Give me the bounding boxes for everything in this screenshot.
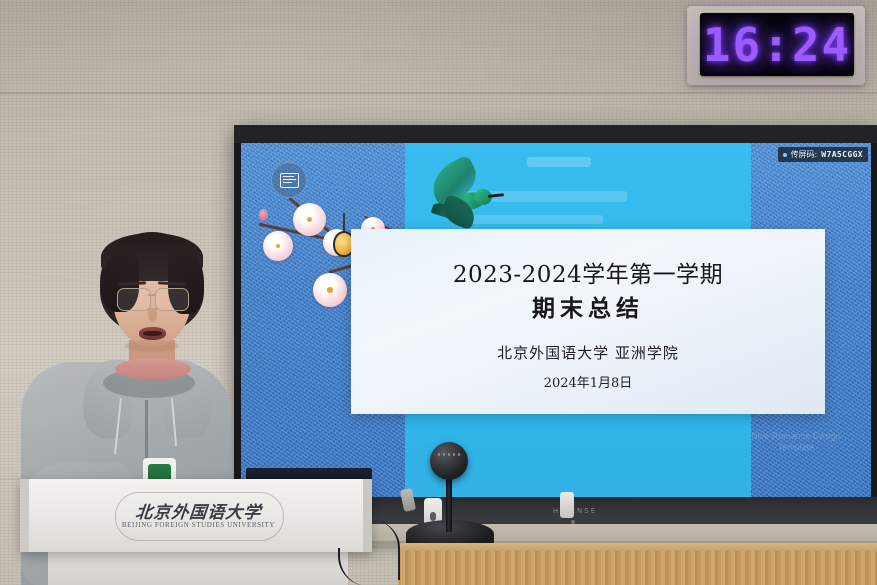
wall-seam — [0, 92, 877, 94]
conference-mic-stem — [446, 476, 452, 532]
nose — [148, 308, 157, 322]
slide-title-line2: 期末总结 — [351, 289, 825, 323]
cast-code-badge: 传屏码: W7A5CGGX — [778, 147, 868, 162]
clock-time: 16:24 — [700, 13, 854, 76]
slide-title-card: 2023-2024学年第一学期 期末总结 北京外国语大学 亚洲学院 2024年1… — [351, 229, 825, 414]
cast-code-value: W7A5CGGX — [821, 150, 863, 159]
chin-shadow — [125, 340, 179, 352]
lecture-hall-photo: 16:24 — [0, 0, 877, 585]
eyeglasses-lens — [117, 288, 151, 311]
conference-mic-head — [430, 442, 468, 480]
lectern-emblem-cn: 北京外国语大学 — [114, 498, 283, 523]
slide-placeholder-bar — [527, 157, 591, 167]
lectern-edge — [363, 479, 372, 552]
display-bezel-top — [234, 125, 877, 143]
mouth-interior — [143, 331, 162, 336]
slide-watermark: Nice Romance Design Template — [741, 431, 851, 453]
lantern-string — [343, 213, 345, 233]
eyeglasses-bridge — [148, 294, 156, 296]
slide-organization: 北京外国语大学 亚洲学院 — [351, 342, 825, 363]
conference-table-front — [398, 551, 877, 585]
desk-device-slot — [430, 512, 436, 521]
conference-mic-grille — [438, 452, 460, 457]
display-screen[interactable]: 传屏码: W7A5CGGX Nice Romance Design Templa… — [241, 143, 871, 497]
cast-icon — [783, 153, 787, 157]
menu-list-icon[interactable] — [271, 162, 307, 198]
lectern-edge — [20, 479, 29, 552]
lectern-body — [48, 550, 348, 585]
cast-code-label: 传屏码: — [791, 149, 818, 160]
slide-title-line1: 2023-2024学年第一学期 — [351, 255, 825, 289]
digital-wall-clock: 16:24 — [700, 13, 854, 76]
inner-collar — [115, 358, 191, 380]
eyeglasses-lens — [155, 288, 189, 311]
display-brand-mark: HISENSE — [537, 507, 613, 516]
lectern-emblem-en: BEIJING FOREIGN STUDIES UNIVERSITY — [115, 521, 282, 529]
desk-device — [560, 492, 574, 518]
slide-date: 2024年1月8日 — [351, 372, 825, 391]
